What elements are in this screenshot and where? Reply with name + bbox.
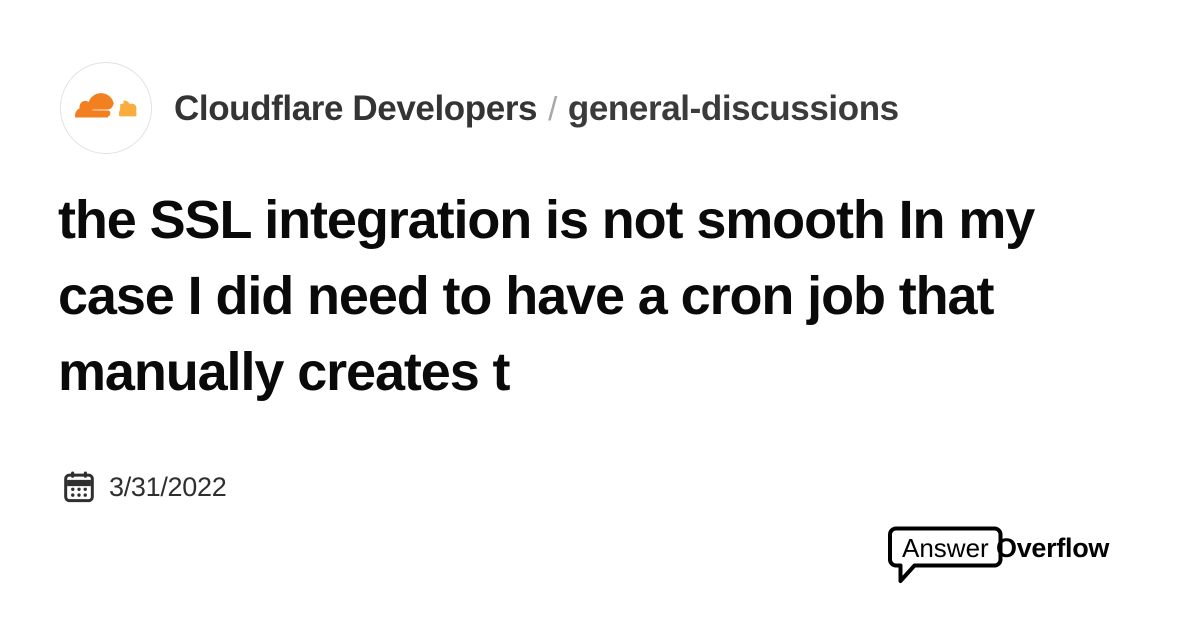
breadcrumb[interactable]: Cloudflare Developers / general-discussi… bbox=[60, 62, 899, 154]
page-title: the SSL integration is not smooth In my … bbox=[58, 182, 1148, 410]
breadcrumb-separator: / bbox=[537, 92, 568, 125]
breadcrumb-channel-name[interactable]: general-discussions bbox=[568, 91, 899, 126]
thread-date: 3/31/2022 bbox=[62, 470, 226, 504]
thread-date-label: 3/31/2022 bbox=[109, 474, 226, 501]
thread-preview-card: Cloudflare Developers / general-discussi… bbox=[0, 0, 1200, 630]
answer-overflow-bold-text: Overflow bbox=[996, 533, 1110, 563]
answer-overflow-bubble-text: Answer bbox=[902, 533, 989, 563]
avatar[interactable] bbox=[60, 62, 152, 154]
calendar-icon bbox=[62, 470, 96, 504]
breadcrumb-server-name[interactable]: Cloudflare Developers bbox=[174, 91, 537, 126]
answer-overflow-logo[interactable]: Answer Overflow bbox=[888, 524, 1118, 592]
cloudflare-logo-icon bbox=[75, 90, 137, 126]
breadcrumb-labels: Cloudflare Developers / general-discussi… bbox=[174, 91, 899, 126]
